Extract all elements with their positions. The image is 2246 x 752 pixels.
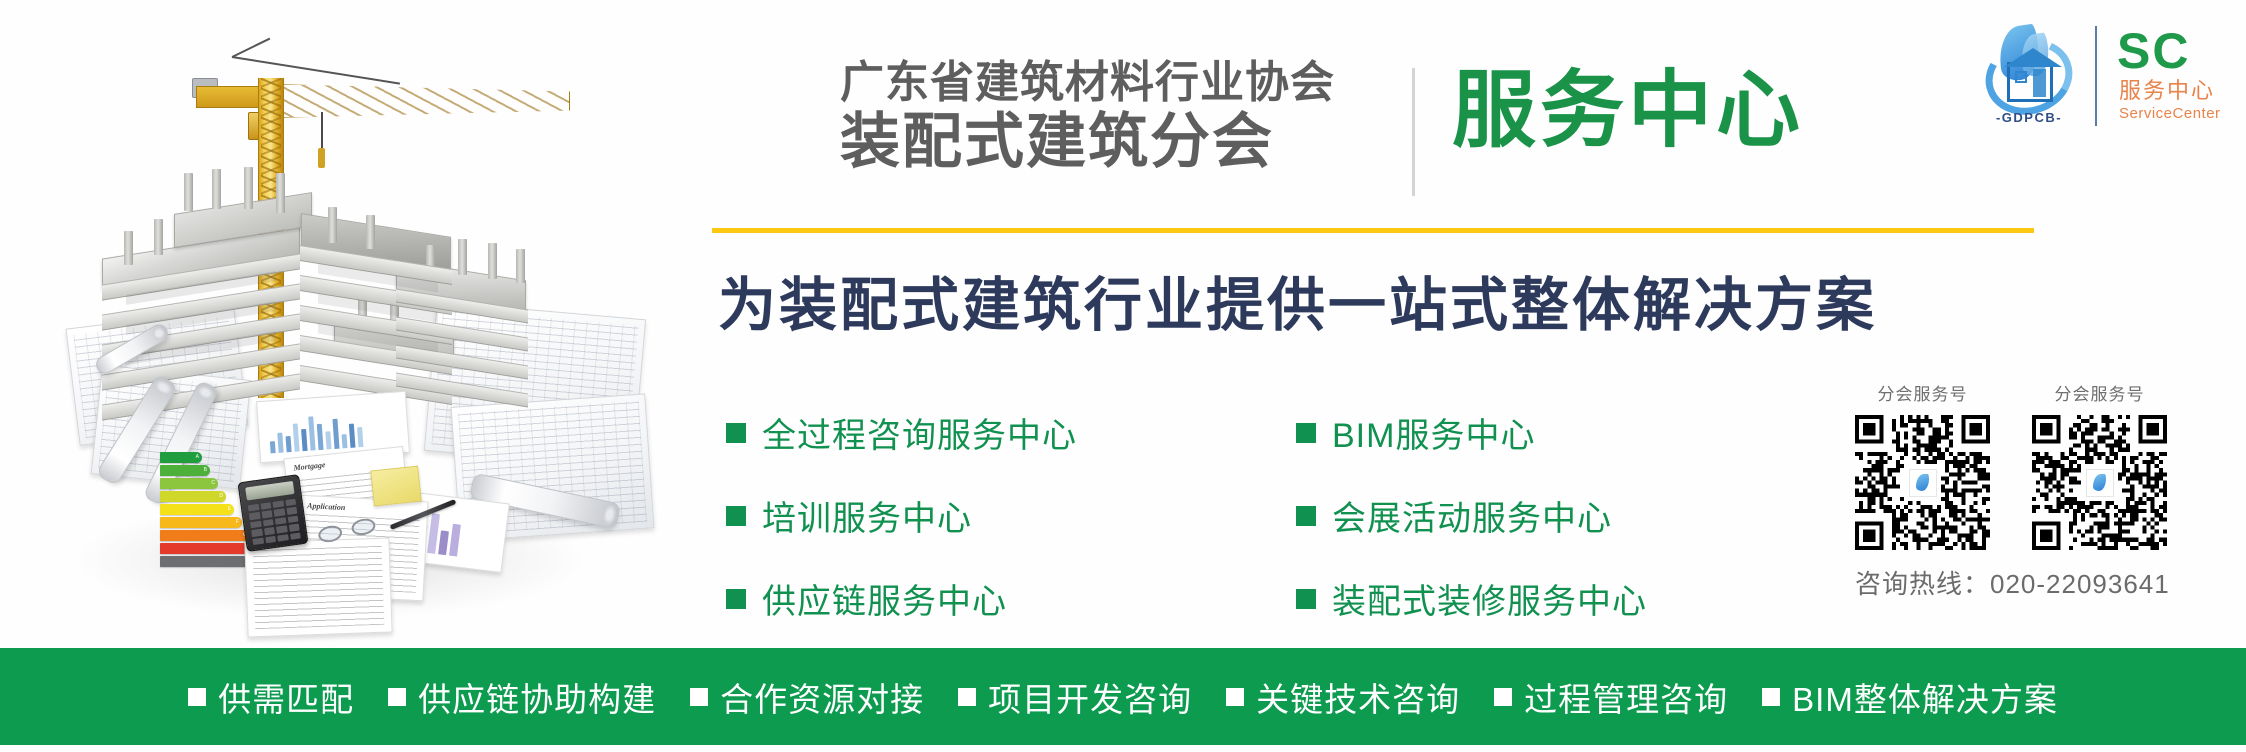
square-bullet-icon <box>726 506 746 526</box>
sc-english-label: ServiceCenter <box>2119 106 2221 121</box>
bar-label: 供需匹配 <box>218 673 354 721</box>
qr-code-image[interactable] <box>2032 415 2167 550</box>
sticky-note <box>370 466 422 507</box>
bar-item[interactable]: 项目开发咨询 <box>958 673 1192 721</box>
crane-hoist-cable <box>321 112 323 152</box>
qr-caption: 分会服务号 <box>1855 380 1990 405</box>
service-label: 装配式装修服务中心 <box>1332 574 1647 623</box>
service-label: 全过程咨询服务中心 <box>762 408 1077 457</box>
construction-illustration: A B C D E F G H I Mortgage Application <box>0 0 680 645</box>
gdpcb-wordmark: -GDPCB- <box>1975 110 2083 125</box>
banner-root: A B C D E F G H I Mortgage Application <box>0 0 2246 752</box>
square-bullet-icon <box>1226 688 1244 706</box>
service-label: BIM服务中心 <box>1332 408 1535 457</box>
qr-code-image[interactable] <box>1855 415 1990 550</box>
square-bullet-icon <box>690 688 708 706</box>
bar-item[interactable]: 合作资源对接 <box>690 673 924 721</box>
service-item[interactable]: BIM服务中心 <box>1296 408 1647 457</box>
qr-code-row: 分会服务号 分会服务号 <box>1855 380 2225 550</box>
calculator-icon <box>237 474 308 552</box>
square-bullet-icon <box>1494 688 1512 706</box>
qr-block[interactable]: 分会服务号 <box>2032 380 2167 550</box>
gold-divider-rule <box>712 228 2034 233</box>
square-bullet-icon <box>1296 589 1316 609</box>
bar-item[interactable]: 供需匹配 <box>188 673 354 721</box>
qr-center-logo-icon <box>1909 469 1937 497</box>
service-item[interactable]: 装配式装修服务中心 <box>1296 574 1647 623</box>
square-bullet-icon <box>726 423 746 443</box>
service-list-right: BIM服务中心 会展活动服务中心 装配式装修服务中心 <box>1296 408 1647 657</box>
service-label: 供应链服务中心 <box>762 574 1007 623</box>
bottom-service-bar: 供需匹配 供应链协助构建 合作资源对接 项目开发咨询 关键技术咨询 过程管理咨询… <box>0 648 2246 745</box>
bar-item[interactable]: 关键技术咨询 <box>1226 673 1460 721</box>
square-bullet-icon <box>188 688 206 706</box>
hotline-text: 咨询热线：020-22093641 <box>1855 564 2225 601</box>
bar-item[interactable]: 供应链协助构建 <box>388 673 656 721</box>
bar-label: 供应链协助构建 <box>418 673 656 721</box>
service-item[interactable]: 培训服务中心 <box>726 491 1077 540</box>
logo-house-shape <box>2007 62 2053 102</box>
service-item[interactable]: 全过程咨询服务中心 <box>726 408 1077 457</box>
bar-label: BIM整体解决方案 <box>1792 673 2058 721</box>
service-center-heading: 服务中心 <box>1452 62 1804 159</box>
logo-vertical-divider <box>2095 26 2097 126</box>
sc-chinese-label: 服务中心 <box>2119 80 2215 102</box>
qr-caption: 分会服务号 <box>2032 380 2167 405</box>
bar-item[interactable]: 过程管理咨询 <box>1494 673 1728 721</box>
square-bullet-icon <box>1296 506 1316 526</box>
bar-label: 合作资源对接 <box>720 673 924 721</box>
service-label: 培训服务中心 <box>762 491 972 540</box>
qr-code-area: 分会服务号 分会服务号 咨询热线：020-22093641 <box>1855 380 2225 601</box>
qr-block[interactable]: 分会服务号 <box>1855 380 1990 550</box>
bar-item[interactable]: BIM整体解决方案 <box>1762 673 2058 721</box>
crane-jib <box>270 84 570 118</box>
square-bullet-icon <box>726 589 746 609</box>
logo-area: -GDPCB- SC 服务中心 ServiceCenter <box>1975 22 2225 132</box>
bar-label: 关键技术咨询 <box>1256 673 1460 721</box>
sc-initials: SC <box>2117 26 2190 76</box>
main-tagline: 为装配式建筑行业提供一站式整体解决方案 <box>718 258 1877 342</box>
service-item[interactable]: 供应链服务中心 <box>726 574 1077 623</box>
bar-label: 过程管理咨询 <box>1524 673 1728 721</box>
qr-center-logo-icon <box>2086 469 2114 497</box>
bar-label: 项目开发咨询 <box>988 673 1192 721</box>
square-bullet-icon <box>388 688 406 706</box>
square-bullet-icon <box>958 688 976 706</box>
square-bullet-icon <box>1762 688 1780 706</box>
square-bullet-icon <box>1296 423 1316 443</box>
form-doc <box>244 537 392 637</box>
service-item[interactable]: 会展活动服务中心 <box>1296 491 1647 540</box>
service-label: 会展活动服务中心 <box>1332 491 1612 540</box>
service-list-left: 全过程咨询服务中心 培训服务中心 供应链服务中心 <box>726 408 1077 657</box>
header-vertical-divider <box>1412 68 1415 196</box>
organization-name-block: 广东省建筑材料行业协会 装配式建筑分会 <box>840 58 1400 176</box>
org-line-1: 广东省建筑材料行业协会 <box>840 58 1400 107</box>
org-line-2: 装配式建筑分会 <box>840 107 1400 176</box>
